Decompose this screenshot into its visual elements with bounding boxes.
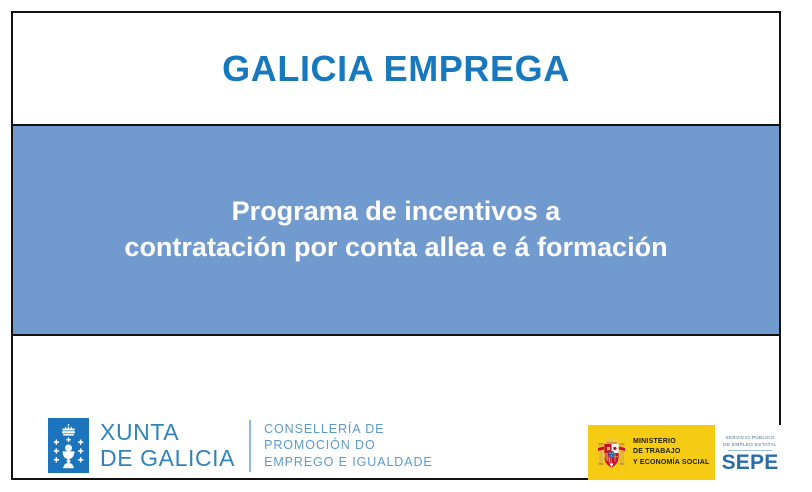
ministerio-sepe-logo: MINISTERIO DE TRABAJO Y ECONOMÍA SOCIAL … [588,425,785,480]
conselleria-line-2: PROMOCIÓN DO [264,437,433,454]
page-title: GALICIA EMPREGA [222,51,570,87]
banner-text-block: Programa de incentivos a contratación po… [124,194,667,265]
program-banner: Programa de incentivos a contratación po… [13,124,779,336]
sepe-acronym: SEPE [722,452,779,473]
xunta-wordmark-line-2: DE GALICIA [100,446,235,472]
header-band: GALICIA EMPREGA [13,13,779,124]
slide-canvas: GALICIA EMPREGA Programa de incentivos a… [0,0,812,492]
ministerio-line-3: Y ECONOMÍA SOCIAL [633,458,710,469]
xunta-galicia-shield-icon [48,418,89,473]
slide-frame: GALICIA EMPREGA Programa de incentivos a… [11,11,781,480]
sepe-subtitle-line-1: SERVICIO PÚBLICO [723,435,776,442]
ministerio-label: MINISTERIO DE TRABAJO Y ECONOMÍA SOCIAL [633,437,710,469]
sepe-block: SERVICIO PÚBLICO DE EMPLEO ESTATAL SEPE [715,425,785,480]
xunta-de-galicia-logo: XUNTA DE GALICIA CONSELLERÍA DE PROMOCIÓ… [48,418,433,473]
ministerio-line-2: DE TRABAJO [633,447,710,458]
xunta-wordmark: XUNTA DE GALICIA [100,420,235,472]
ministerio-line-1: MINISTERIO [633,437,710,448]
logo-divider [249,420,251,472]
banner-line-1: Programa de incentivos a [232,196,561,226]
spain-coat-of-arms-icon [598,435,625,471]
footer-logo-bar: XUNTA DE GALICIA CONSELLERÍA DE PROMOCIÓ… [13,336,779,480]
conselleria-label: CONSELLERÍA DE PROMOCIÓN DO EMPREGO E IG… [264,421,433,471]
banner-line-2: contratación por conta allea e á formaci… [124,230,667,266]
xunta-wordmark-line-1: XUNTA [100,419,179,445]
conselleria-line-1: CONSELLERÍA DE [264,421,433,438]
conselleria-line-3: EMPREGO E IGUALDADE [264,454,433,471]
ministerio-block: MINISTERIO DE TRABAJO Y ECONOMÍA SOCIAL [588,425,715,480]
sepe-subtitle-line-2: DE EMPLEO ESTATAL [723,442,776,449]
sepe-subtitle: SERVICIO PÚBLICO DE EMPLEO ESTATAL [723,435,776,448]
